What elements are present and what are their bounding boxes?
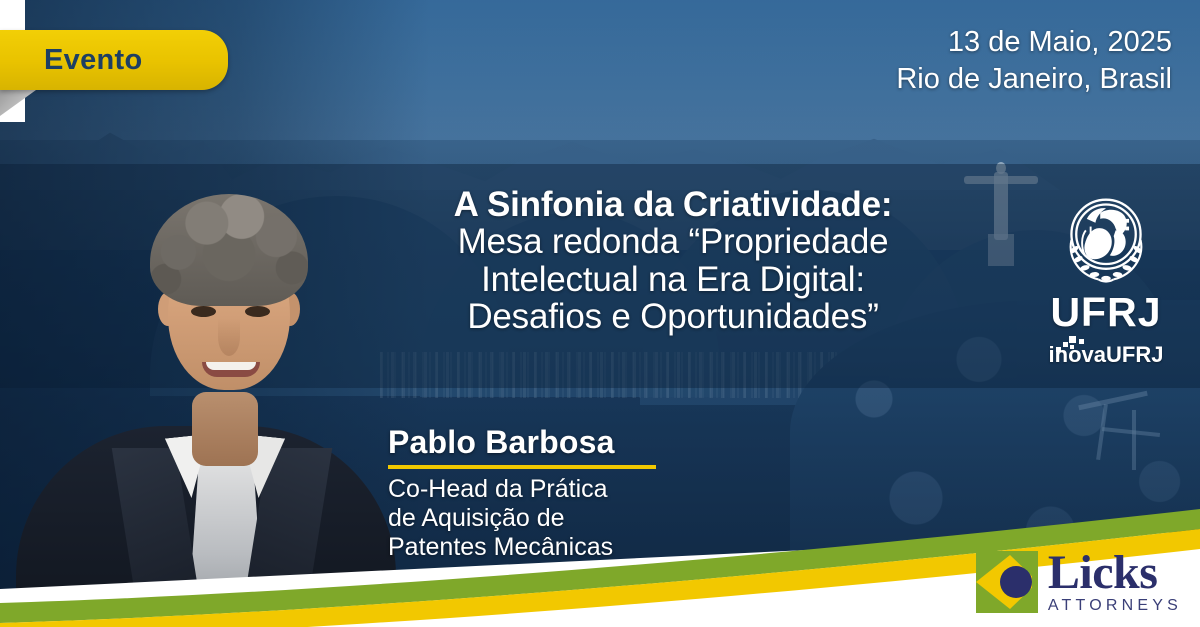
event-title-line-1: A Sinfonia da Criatividade: [388, 186, 958, 223]
event-date-location: 13 de Maio, 2025 Rio de Janeiro, Brasil [896, 24, 1172, 98]
ufrj-seal-icon [1058, 186, 1154, 294]
speaker-role-line-2: de Aquisição de [388, 504, 808, 533]
licks-attorneys-logo: Licks ATTORNEYS [976, 551, 1182, 615]
evento-badge-label: Evento [44, 44, 143, 77]
speaker-underline-rule [388, 465, 656, 469]
licks-flag-mark-icon [976, 551, 1038, 613]
inova-squares-icon [1056, 336, 1090, 354]
event-title-line-3: Intelectual na Era Digital: [388, 261, 958, 298]
speaker-role-line-1: Co-Head da Prática [388, 475, 808, 504]
event-title: A Sinfonia da Criatividade: Mesa redonda… [388, 186, 958, 336]
speaker-portrait-photo [40, 96, 370, 601]
neck [192, 392, 258, 466]
inova-ufrj-logo: inovaUFRJ [1028, 342, 1184, 372]
event-location: Rio de Janeiro, Brasil [896, 61, 1172, 98]
curly-hair [150, 194, 308, 306]
evento-badge: Evento [0, 30, 228, 90]
event-title-line-4: Desafios e Oportunidades” [388, 298, 958, 335]
eye-right [245, 306, 270, 317]
event-title-line-2: Mesa redonda “Propriedade [388, 223, 958, 260]
event-announcement-banner: Evento 13 de Maio, 2025 Rio de Janeiro, … [0, 0, 1200, 627]
event-date: 13 de Maio, 2025 [896, 24, 1172, 61]
ufrj-logo: UFRJ inovaUFRJ [1028, 186, 1184, 372]
teeth [206, 362, 256, 370]
eye-left [191, 306, 216, 317]
speaker-info: Pablo Barbosa Co-Head da Prática de Aqui… [388, 424, 808, 562]
licks-wordmark: Licks [1048, 551, 1182, 595]
speaker-name: Pablo Barbosa [388, 424, 808, 461]
nose [218, 318, 240, 356]
licks-attorneys-subtitle: ATTORNEYS [1048, 597, 1182, 615]
ufrj-wordmark: UFRJ [1028, 292, 1184, 333]
